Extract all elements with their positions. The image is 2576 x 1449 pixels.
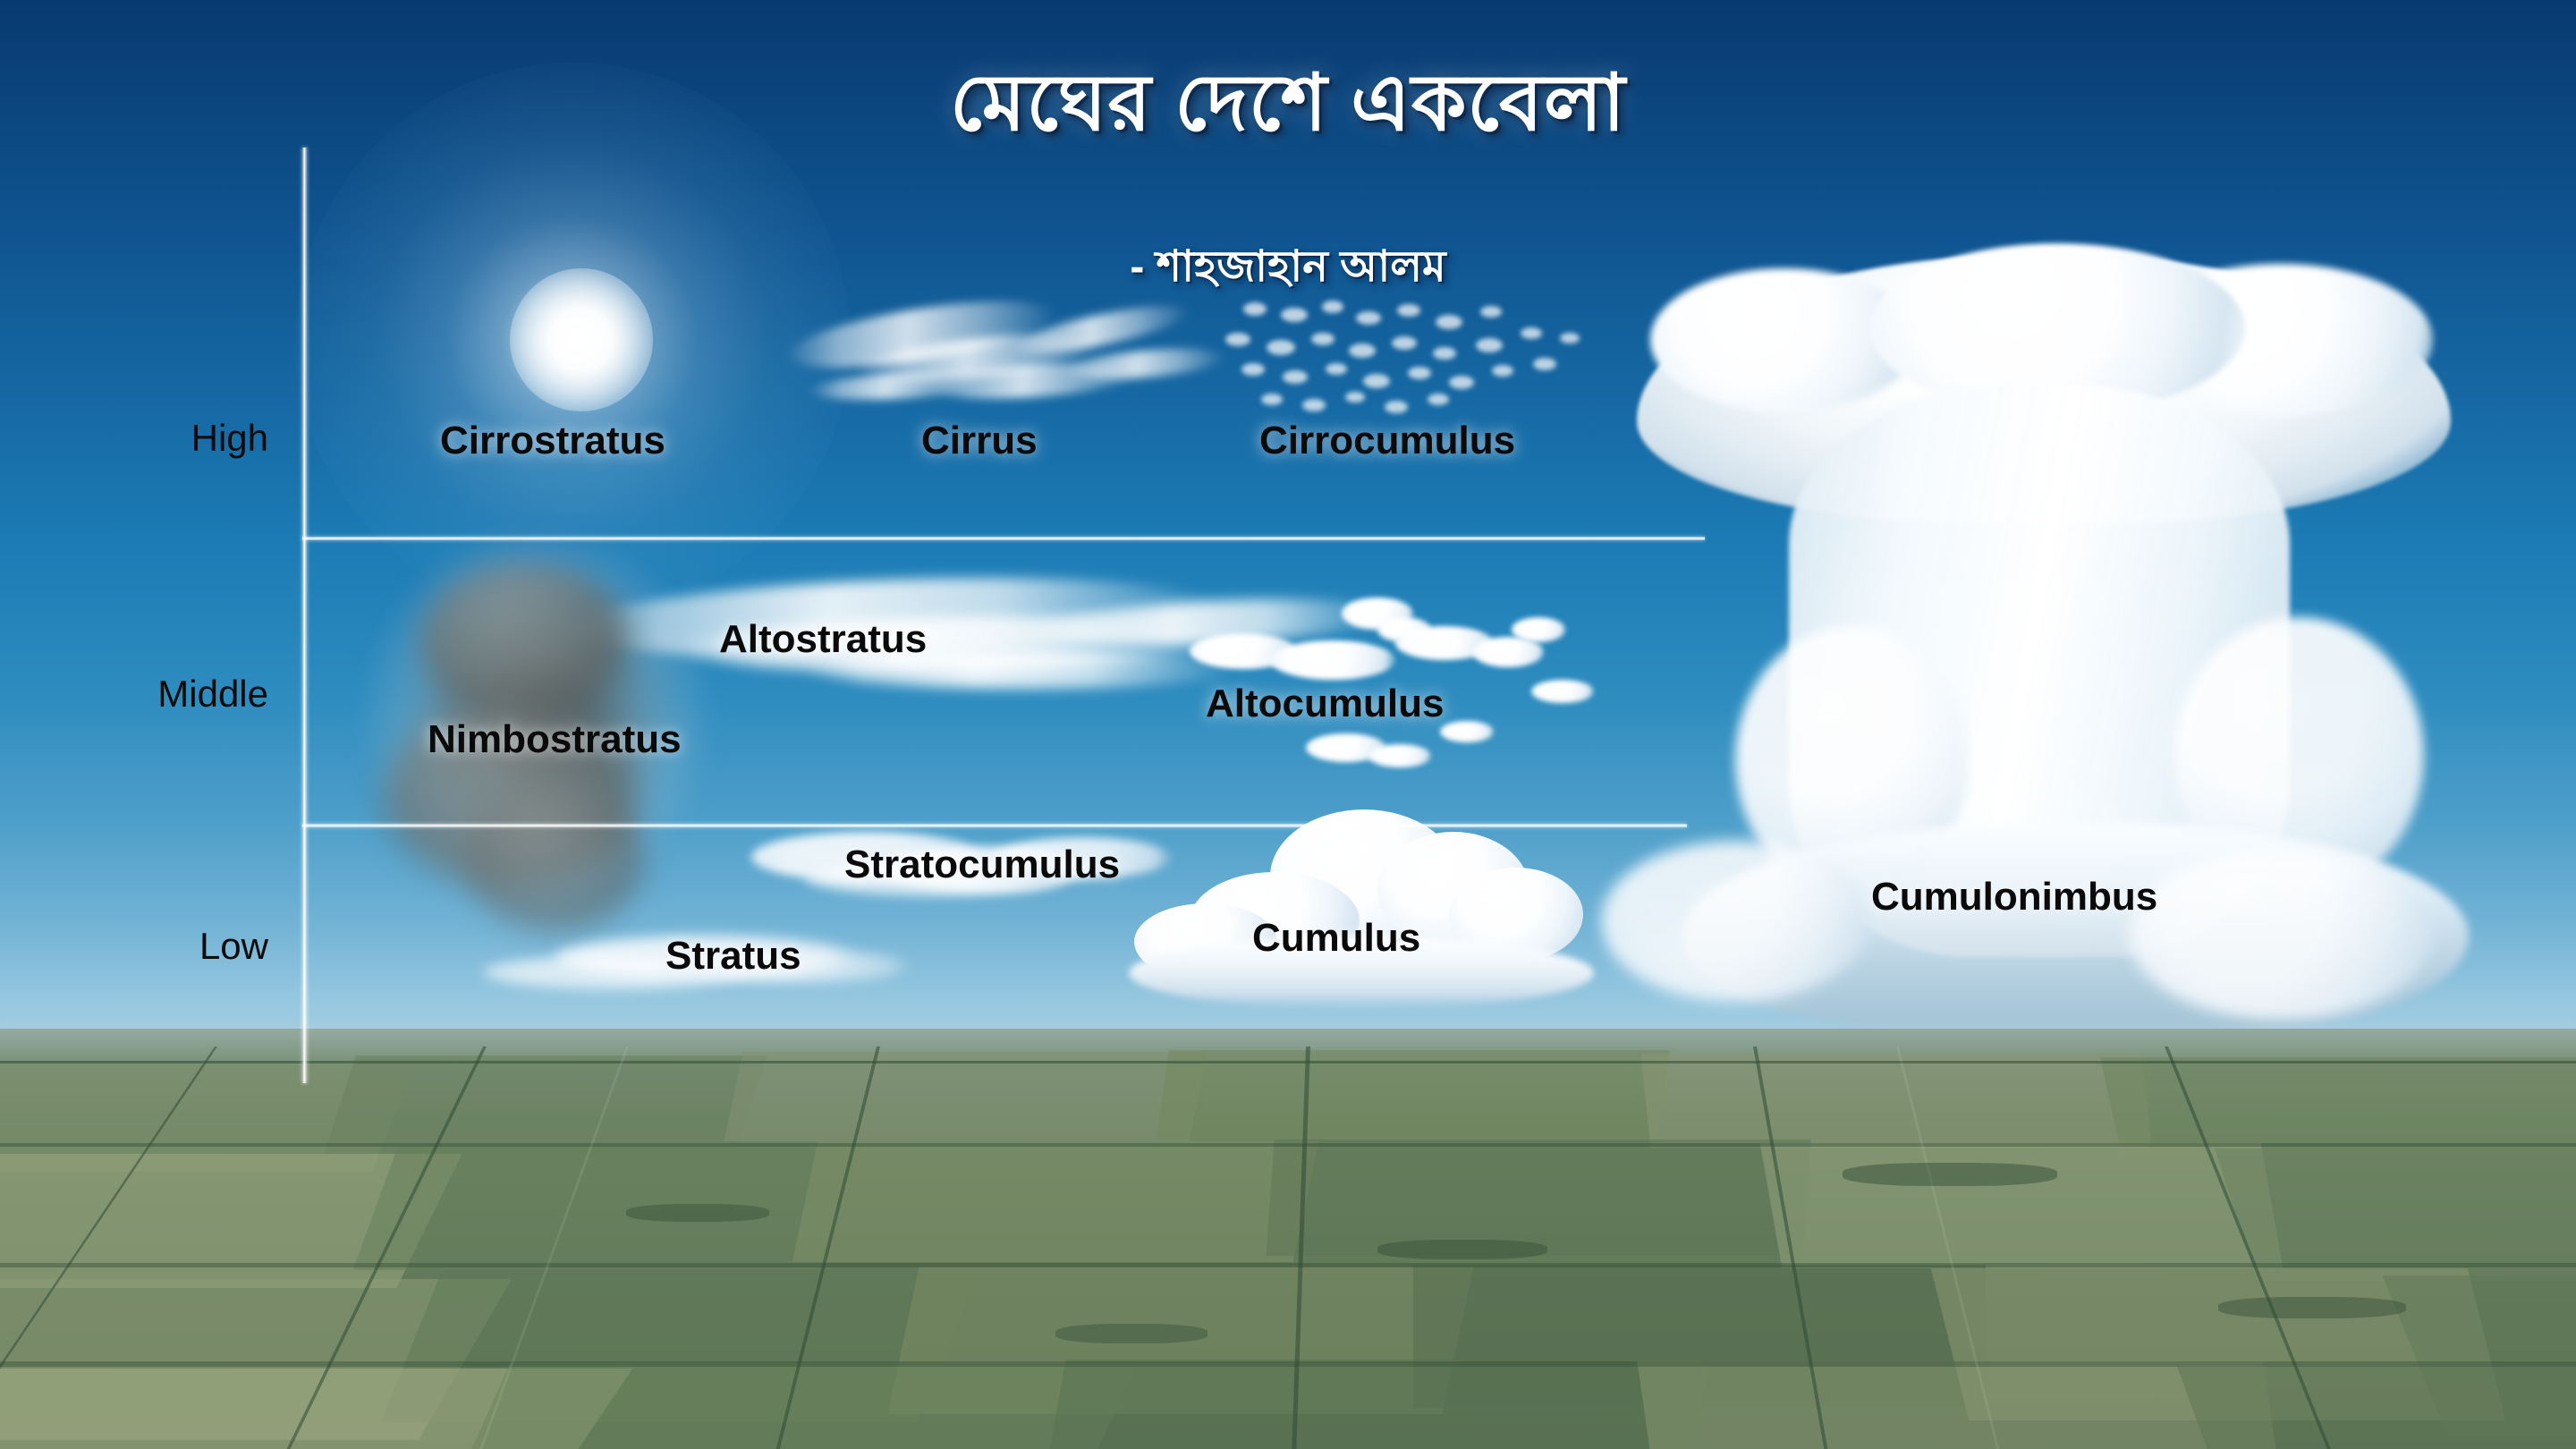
ground-farmland [0,1029,2576,1449]
gridline-high-middle [302,537,1705,540]
axis-label-low: Low [54,925,268,968]
cloud-label-cirrostratus: Cirrostratus [440,419,665,463]
cloud-label-cirrocumulus: Cirrocumulus [1259,419,1515,463]
cloud-classification-diagram: মেঘের দেশে একবেলা - শাহজাহান আলম High Mi… [0,0,2576,1449]
cloud-label-cumulonimbus: Cumulonimbus [1871,875,2157,919]
gridline-middle-low [302,824,1687,827]
axis-label-middle: Middle [54,673,268,716]
cloud-label-altostratus: Altostratus [719,617,927,662]
cloud-label-altocumulus: Altocumulus [1206,682,1444,726]
author-credit: - শাহজাহান আলম [0,234,2576,305]
cloud-label-stratocumulus: Stratocumulus [844,843,1120,887]
cloud-label-stratus: Stratus [665,934,801,979]
cloud-label-cirrus: Cirrus [921,419,1038,463]
page-title: মেঘের দেশে একবেলা [0,43,2576,174]
cloud-label-cumulus: Cumulus [1252,916,1420,961]
axis-label-high: High [54,417,268,460]
cloud-label-nimbostratus: Nimbostratus [428,717,682,762]
